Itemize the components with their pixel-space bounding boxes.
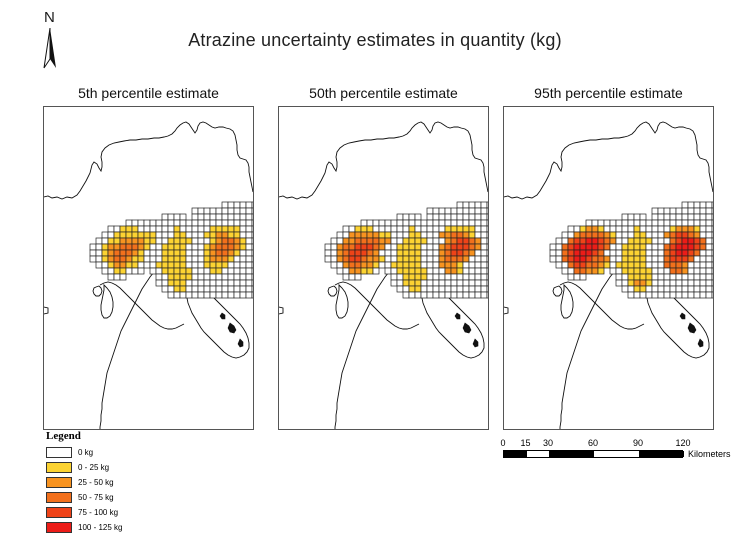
scale-bar-segment [504,451,527,457]
panel-title: 5th percentile estimate [43,85,254,101]
legend-swatch [46,447,72,458]
legend-item: 25 - 50 kg [46,476,186,489]
legend-item: 100 - 125 kg [46,521,186,534]
map-panel-5th: 5th percentile estimate [43,85,254,430]
scale-bar-tick: 60 [588,437,598,449]
legend-label: 0 - 25 kg [78,463,109,472]
legend-item: 0 - 25 kg [46,461,186,474]
legend-swatch [46,522,72,533]
map-canvas [278,106,489,430]
legend-item: 75 - 100 kg [46,506,186,519]
legend-swatch [46,462,72,473]
legend-item: 0 kg [46,446,186,459]
legend-item: 50 - 75 kg [46,491,186,504]
legend-label: 50 - 75 kg [78,493,114,502]
north-arrow-label: N [44,10,55,25]
map-canvas [503,106,714,430]
panel-title: 50th percentile estimate [278,85,489,101]
legend-label: 100 - 125 kg [78,523,122,532]
legend-swatch [46,507,72,518]
scale-bar-segment [549,451,594,457]
scale-bar: 015306090120 Kilometers [503,437,718,458]
scale-bar-tick: 120 [675,437,690,449]
map-panel-50th: 50th percentile estimate [278,85,489,430]
scale-bar-segment [639,451,684,457]
scale-bar-tick: 90 [633,437,643,449]
legend-label: 0 kg [78,448,93,457]
legend-swatch [46,477,72,488]
figure-title: Atrazine uncertainty estimates in quanti… [0,30,750,51]
panel-title: 95th percentile estimate [503,85,714,101]
legend-title: Legend [46,430,186,442]
map-panel-95th: 95th percentile estimate [503,85,714,430]
scale-bar-graphic [503,450,683,458]
scale-bar-ticks: 015306090120 [503,437,718,449]
scale-bar-unit-label: Kilometers [688,449,731,459]
map-canvas [43,106,254,430]
legend-swatch [46,492,72,503]
scale-bar-tick: 15 [520,437,530,449]
legend: Legend 0 kg0 - 25 kg25 - 50 kg50 - 75 kg… [46,430,186,536]
figure-canvas: N Atrazine uncertainty estimates in quan… [0,0,750,530]
scale-bar-tick: 0 [500,437,505,449]
scale-bar-tick: 30 [543,437,553,449]
legend-items: 0 kg0 - 25 kg25 - 50 kg50 - 75 kg75 - 10… [46,446,186,534]
legend-label: 25 - 50 kg [78,478,114,487]
legend-label: 75 - 100 kg [78,508,118,517]
